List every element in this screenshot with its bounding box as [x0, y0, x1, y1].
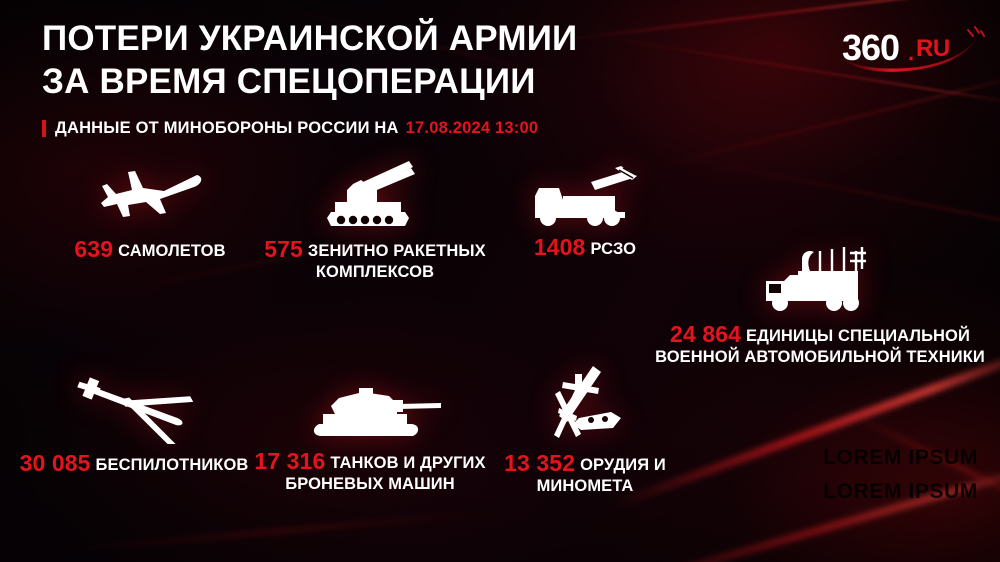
stat-aircraft-text: САМОЛЕТОВ [118, 242, 226, 260]
stat-aircraft-label: 639САМОЛЕТОВ [55, 236, 245, 263]
stat-mlrs-label: 1408РСЗО [490, 234, 680, 261]
tank-icon [248, 378, 492, 442]
svg-text:360: 360 [842, 27, 899, 68]
stat-artillery-value: 13 352 [504, 450, 575, 476]
stat-military-vehicles-label: 24 864ЕДИНИЦЫ СПЕЦИАЛЬНОЙ ВОЕННОЙ АВТОМО… [655, 321, 985, 368]
stat-drones-label: 30 085БЕСПИЛОТНИКОВ [18, 450, 250, 477]
stat-mlrs-value: 1408 [534, 234, 586, 260]
fighter-jet-icon [55, 160, 245, 230]
header: ПОТЕРИ УКРАИНСКОЙ АРМИИ ЗА ВРЕМЯ СПЕЦОПЕ… [42, 18, 682, 138]
stat-tanks-value: 17 316 [254, 448, 325, 474]
watermark: LOREM IPSUM LOREM IPSUM [823, 441, 978, 510]
accent-bar-icon [42, 120, 46, 137]
svg-text:.: . [908, 40, 914, 65]
stat-military-vehicles: 24 864ЕДИНИЦЫ СПЕЦИАЛЬНОЙ ВОЕННОЙ АВТОМО… [655, 243, 985, 368]
watermark-line-1: LOREM IPSUM [823, 441, 978, 476]
stat-military-vehicles-value: 24 864 [670, 321, 741, 347]
stat-air-defense-text: ЗЕНИТНО РАКЕТНЫХ КОМПЛЕКСОВ [308, 242, 486, 281]
stat-tanks: 17 316ТАНКОВ И ДРУГИХ БРОНЕВЫХ МАШИН [248, 378, 492, 495]
subtitle-source-text: ДАННЫЕ ОТ МИНОБОРОНЫ РОССИИ НА [55, 119, 399, 138]
mortar-icon [492, 362, 678, 444]
stat-air-defense: 575ЗЕНИТНО РАКЕТНЫХ КОМПЛЕКСОВ [255, 158, 495, 283]
stat-aircraft-value: 639 [74, 236, 113, 262]
page-title-line-1: ПОТЕРИ УКРАИНСКОЙ АРМИИ [42, 18, 682, 61]
stat-air-defense-value: 575 [264, 236, 303, 262]
sam-launcher-icon [255, 158, 495, 230]
uav-drone-icon [18, 368, 250, 444]
stat-artillery-label: 13 352ОРУДИЯ И МИНОМЕТА [492, 450, 678, 497]
watermark-line-2: LOREM IPSUM [823, 475, 978, 510]
subtitle: ДАННЫЕ ОТ МИНОБОРОНЫ РОССИИ НА 17.08.202… [42, 119, 682, 138]
stat-drones-value: 30 085 [20, 450, 91, 476]
stat-aircraft: 639САМОЛЕТОВ [55, 160, 245, 263]
stat-air-defense-label: 575ЗЕНИТНО РАКЕТНЫХ КОМПЛЕКСОВ [255, 236, 495, 283]
stat-drones-text: БЕСПИЛОТНИКОВ [96, 456, 249, 474]
stat-mlrs: 1408РСЗО [490, 162, 680, 261]
rocket-launcher-truck-icon [490, 162, 680, 228]
page-title-line-2: ЗА ВРЕМЯ СПЕЦОПЕРАЦИИ [42, 61, 682, 104]
command-truck-icon [655, 243, 985, 315]
stat-tanks-label: 17 316ТАНКОВ И ДРУГИХ БРОНЕВЫХ МАШИН [248, 448, 492, 495]
infographic-canvas: LOREM IPSUM LOREM IPSUM ПОТЕРИ УКРАИНСКО… [0, 0, 1000, 562]
stat-artillery: 13 352ОРУДИЯ И МИНОМЕТА [492, 362, 678, 497]
svg-text:RU: RU [916, 35, 950, 62]
stat-mlrs-text: РСЗО [590, 240, 636, 258]
subtitle-timestamp: 17.08.2024 13:00 [406, 119, 539, 138]
360ru-logo[interactable]: 360 . RU [838, 24, 986, 78]
stat-drones: 30 085БЕСПИЛОТНИКОВ [18, 368, 250, 477]
